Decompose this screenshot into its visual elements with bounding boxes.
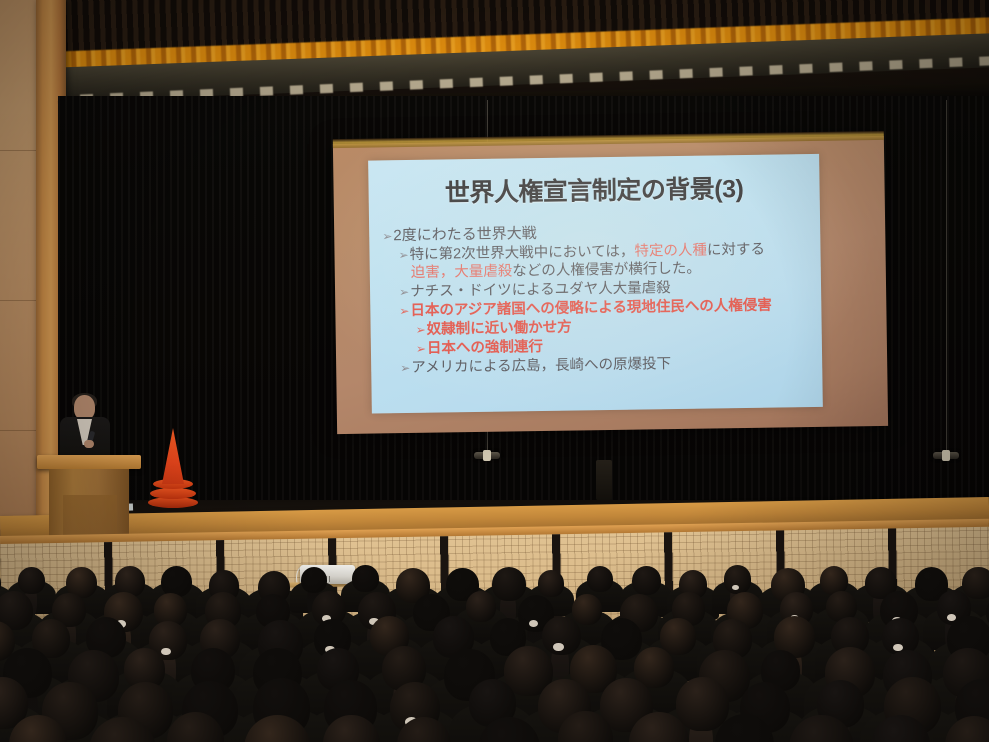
bullet-arrow-icon: ➢ [399, 285, 409, 299]
hair-scrunchie [161, 648, 171, 656]
presenter [52, 395, 116, 459]
audience-member-head [466, 591, 496, 622]
audience-member-head [676, 677, 729, 731]
cone-top [162, 428, 184, 484]
hair-scrunchie [947, 614, 956, 621]
slide-body: ➢2度にわたる世界大戦 ➢特に第2次世界大戦中においては，特定の人種に対する 迫… [382, 220, 814, 378]
presenter-hand [84, 440, 94, 448]
curtain-weight-1 [474, 452, 500, 459]
audience-member-head [572, 594, 603, 625]
audience-member-head [18, 567, 44, 594]
bullet-arrow-icon: ➢ [398, 247, 408, 261]
audience [0, 556, 989, 742]
bullet-arrow-icon: ➢ [382, 229, 392, 243]
bullet-arrow-icon: ➢ [399, 304, 409, 318]
hair-scrunchie [553, 643, 563, 651]
curtain-cord-2 [946, 100, 947, 452]
audience-member-head [660, 618, 696, 654]
audience-member-head [161, 566, 192, 597]
traffic-cone-stack [148, 428, 198, 508]
podium-top [37, 455, 141, 469]
stage-speaker-box [596, 460, 612, 500]
curtain-weight-2 [933, 452, 959, 459]
audience-member-head [352, 565, 378, 592]
audience-member-head [492, 567, 526, 602]
cone-ring-2 [150, 488, 196, 499]
audience-member-head [538, 570, 564, 596]
bullet-arrow-icon: ➢ [416, 341, 426, 355]
audience-member-head [301, 567, 327, 593]
audience-member-head [632, 566, 661, 595]
presentation-slide: 世界人権宣言制定の背景(3) ➢2度にわたる世界大戦 ➢特に第2次世界大戦中にお… [368, 154, 823, 414]
slide-title: 世界人権宣言制定の背景(3) [368, 168, 819, 211]
bullet-arrow-icon: ➢ [400, 361, 410, 375]
audience-member-head [962, 567, 989, 600]
bullet-arrow-icon: ➢ [416, 323, 426, 337]
audience-member-head [587, 566, 613, 593]
projection-screen: 世界人権宣言制定の背景(3) ➢2度にわたる世界大戦 ➢特に第2次世界大戦中にお… [333, 136, 888, 434]
auditorium-scene: 世界人権宣言制定の背景(3) ➢2度にわたる世界大戦 ➢特に第2次世界大戦中にお… [0, 0, 989, 742]
